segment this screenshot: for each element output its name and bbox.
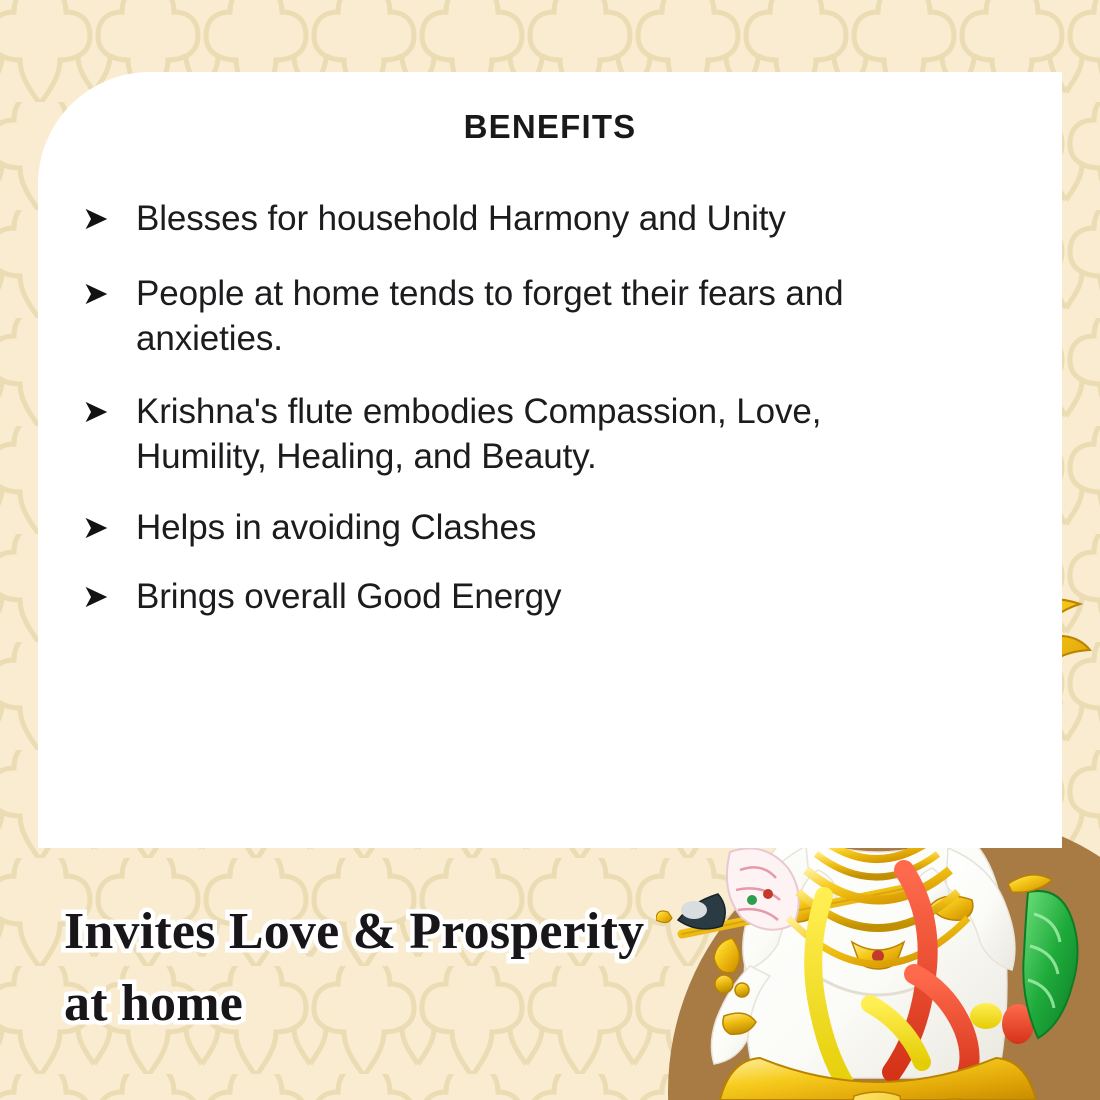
arrow-bullet-icon: ➤ [82, 196, 136, 241]
benefits-list: ➤ Blesses for household Harmony and Unit… [82, 196, 982, 649]
page-title: BENEFITS [38, 108, 1062, 146]
list-item: ➤ Krishna's flute embodies Compassion, L… [82, 389, 982, 479]
benefit-text: People at home tends to forget their fea… [136, 271, 936, 361]
tagline-text: Invites Love & Prosperity at home [64, 896, 684, 1040]
benefit-text: Brings overall Good Energy [136, 574, 936, 619]
list-item: ➤ People at home tends to forget their f… [82, 271, 982, 361]
arrow-bullet-icon: ➤ [82, 389, 136, 434]
arrow-bullet-icon: ➤ [82, 574, 136, 619]
arrow-bullet-icon: ➤ [82, 271, 136, 316]
arrow-bullet-icon: ➤ [82, 505, 136, 550]
poster-canvas: BENEFITS ➤ Blesses for household Harmony… [0, 0, 1100, 1100]
benefits-card: BENEFITS ➤ Blesses for household Harmony… [38, 72, 1062, 848]
benefit-text: Helps in avoiding Clashes [136, 505, 936, 550]
benefit-text: Blesses for household Harmony and Unity [136, 196, 936, 241]
list-item: ➤ Helps in avoiding Clashes [82, 505, 982, 550]
benefit-text: Krishna's flute embodies Compassion, Lov… [136, 389, 936, 479]
list-item: ➤ Brings overall Good Energy [82, 574, 982, 619]
list-item: ➤ Blesses for household Harmony and Unit… [82, 196, 982, 241]
